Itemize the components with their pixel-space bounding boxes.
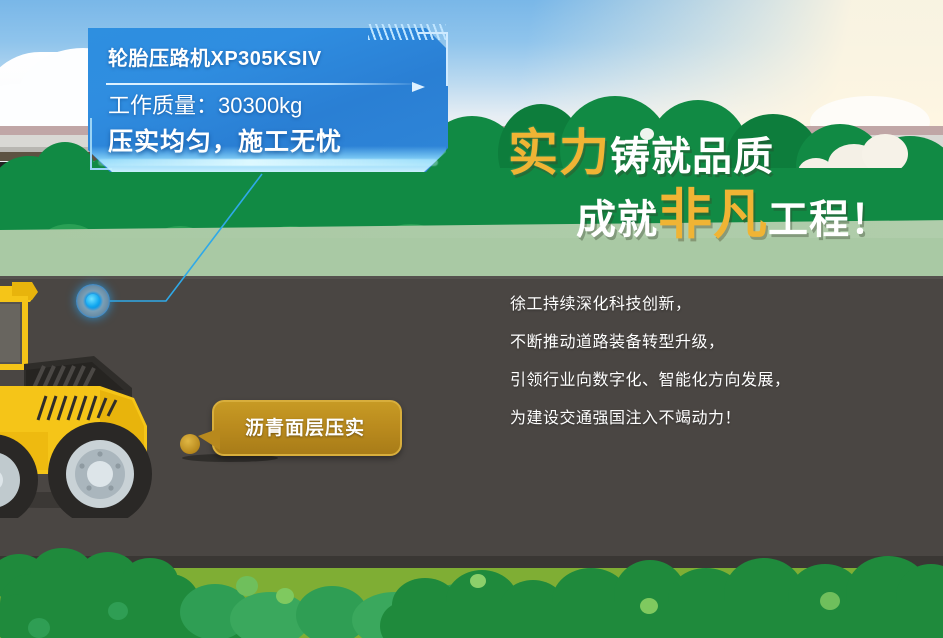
copy-line: 引领行业向数字化、智能化方向发展， bbox=[510, 362, 910, 400]
copy-line: 不断推动道路装备转型升级， bbox=[510, 324, 910, 362]
copy-line: 徐工持续深化科技创新， bbox=[510, 286, 910, 324]
headline-gold-1: 实力 bbox=[508, 125, 610, 181]
panel-spec-weight: 工作质量：30300kg bbox=[108, 88, 438, 120]
panel-bottom-highlight bbox=[98, 159, 438, 166]
headline-line-1: 实力铸就品质 bbox=[508, 128, 774, 178]
title-divider bbox=[106, 83, 422, 85]
blue-hotspot-core-icon bbox=[86, 294, 100, 308]
bottom-hedge bbox=[0, 540, 943, 638]
callout-anchor-dot-icon bbox=[180, 434, 200, 454]
headline-line-2: 成就非凡工程！ bbox=[576, 188, 891, 242]
panel-slogan: 压实均匀，施工无忧 bbox=[108, 122, 438, 158]
promo-banner: 轮胎压路机XP305KSIV 工作质量：30300kg 压实均匀，施工无忧 实力… bbox=[0, 0, 943, 638]
headline-white-2b: 工程！ bbox=[768, 198, 891, 242]
callout-bubble[interactable]: 沥青面层压实 bbox=[212, 400, 398, 458]
headline-white-1: 铸就品质 bbox=[610, 135, 774, 179]
body-copy: 徐工持续深化科技创新， 不断推动道路装备转型升级， 引领行业向数字化、智能化方向… bbox=[510, 286, 910, 438]
copy-line: 为建设交通强国注入不竭动力！ bbox=[510, 400, 910, 438]
panel-title: 轮胎压路机XP305KSIV bbox=[108, 42, 438, 71]
spec-panel[interactable]: 轮胎压路机XP305KSIV 工作质量：30300kg 压实均匀，施工无忧 bbox=[88, 28, 448, 172]
pneumatic-tire-roller bbox=[0, 278, 212, 518]
headline-gold-2: 非凡 bbox=[658, 185, 768, 245]
roller-illustration bbox=[0, 278, 212, 518]
callout-label: 沥青面层压实 bbox=[212, 413, 398, 440]
headline-white-2a: 成就 bbox=[576, 198, 658, 242]
